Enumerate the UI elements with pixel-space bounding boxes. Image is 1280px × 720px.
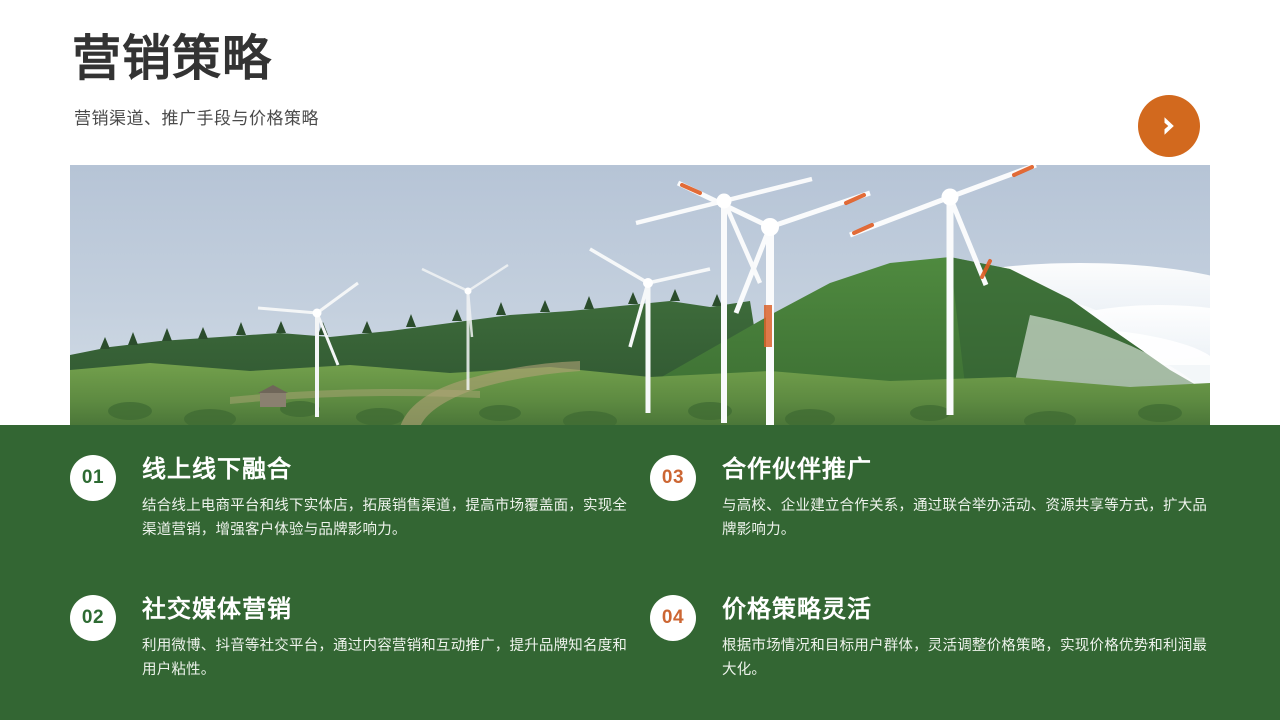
- feature-grid: 01 线上线下融合 结合线上电商平台和线下实体店，拓展销售渠道，提高市场覆盖面，…: [0, 425, 1280, 720]
- feature-title: 线上线下融合: [142, 455, 630, 485]
- content-band: 01 线上线下融合 结合线上电商平台和线下实体店，拓展销售渠道，提高市场覆盖面，…: [0, 425, 1280, 720]
- hero-image: [70, 165, 1210, 427]
- page-title: 营销策略: [72, 30, 272, 88]
- feature-title: 价格策略灵活: [722, 595, 1210, 625]
- feature-number-badge: 04: [650, 595, 696, 641]
- feature-title: 社交媒体营销: [142, 595, 630, 625]
- feature-item: 01 线上线下融合 结合线上电商平台和线下实体店，拓展销售渠道，提高市场覆盖面，…: [70, 455, 630, 542]
- next-slide-button[interactable]: [1138, 95, 1200, 157]
- feature-item: 04 价格策略灵活 根据市场情况和目标用户群体，灵活调整价格策略，实现价格优势和…: [650, 595, 1210, 682]
- feature-item: 02 社交媒体营销 利用微博、抖音等社交平台，通过内容营销和互动推广，提升品牌知…: [70, 595, 630, 682]
- slide-root: 营销策略 营销渠道、推广手段与价格策略: [0, 0, 1280, 720]
- feature-item: 03 合作伙伴推广 与高校、企业建立合作关系，通过联合举办活动、资源共享等方式，…: [650, 455, 1210, 542]
- feature-description: 结合线上电商平台和线下实体店，拓展销售渠道，提高市场覆盖面，实现全渠道营销，增强…: [142, 494, 630, 542]
- feature-number-badge: 01: [70, 455, 116, 501]
- feature-number-badge: 03: [650, 455, 696, 501]
- chevron-right-icon: [1156, 113, 1182, 139]
- feature-description: 与高校、企业建立合作关系，通过联合举办活动、资源共享等方式，扩大品牌影响力。: [722, 494, 1210, 542]
- feature-number-badge: 02: [70, 595, 116, 641]
- slide-header: 营销策略 营销渠道、推广手段与价格策略: [0, 0, 1280, 165]
- page-subtitle: 营销渠道、推广手段与价格策略: [74, 107, 319, 131]
- feature-description: 根据市场情况和目标用户群体，灵活调整价格策略，实现价格优势和利润最大化。: [722, 634, 1210, 682]
- feature-title: 合作伙伴推广: [722, 455, 1210, 485]
- feature-description: 利用微博、抖音等社交平台，通过内容营销和互动推广，提升品牌知名度和用户粘性。: [142, 634, 630, 682]
